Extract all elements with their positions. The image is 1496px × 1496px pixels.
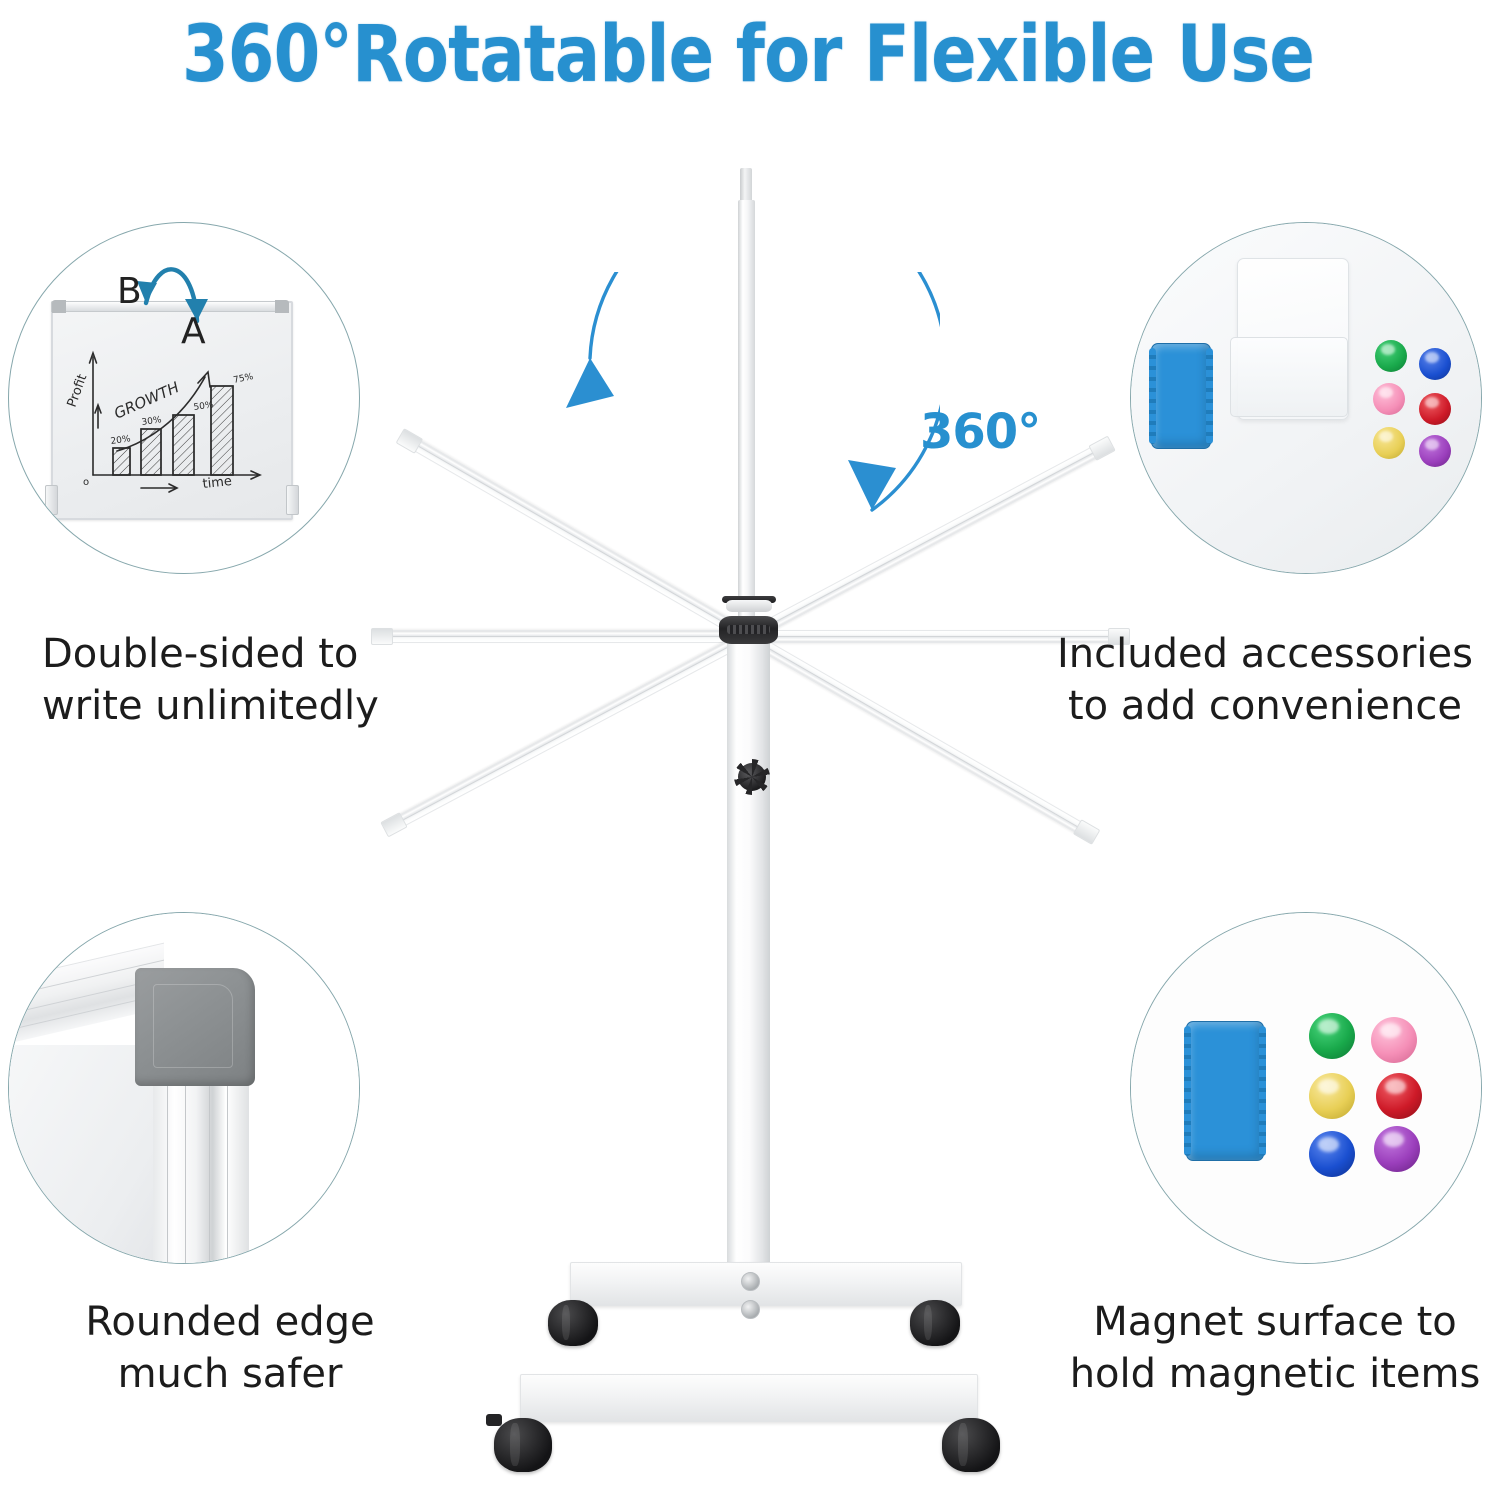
feature-circle-accessories — [1130, 222, 1482, 574]
rotation-arc-graphic — [520, 272, 940, 692]
base-screw-lower — [741, 1300, 760, 1319]
caster-stem-front-left — [486, 1414, 502, 1426]
magnet-red — [1376, 1073, 1422, 1119]
magnet-pink — [1371, 1017, 1417, 1063]
magnet-pink — [1373, 383, 1405, 415]
height-adjust-knob[interactable] — [738, 763, 766, 791]
feature-circle-double-sided: Profit time GROWTH 20% 30% 50% 75% o — [8, 222, 360, 574]
magnetic-eraser — [1186, 1021, 1264, 1161]
magnet-red — [1419, 393, 1451, 425]
caster-wheel-front-left — [494, 1418, 552, 1472]
board-label-front: A — [181, 311, 206, 352]
magnet-yellow — [1309, 1073, 1355, 1119]
page-title: 360°Rotatable for Flexible Use — [105, 10, 1392, 100]
base-crossbar-rear — [570, 1262, 962, 1306]
caster-wheel-front-right — [942, 1418, 1000, 1472]
caption-magnet-surface: Magnet surface to hold magnetic items — [1055, 1296, 1495, 1400]
magnet-blue — [1419, 348, 1451, 380]
caster-wheel-rear-left — [548, 1300, 598, 1346]
board-label-back: B — [117, 271, 142, 312]
rotation-degrees-label: 360° — [920, 404, 1040, 460]
magnet-purple — [1374, 1126, 1420, 1172]
feature-circle-magnet-surface — [1130, 912, 1482, 1264]
caption-double-sided: Double-sided to write unlimitedly — [42, 628, 462, 732]
caster-wheel-rear-right — [910, 1300, 960, 1346]
frame-side-rail — [153, 1061, 249, 1264]
caption-accessories: Included accessories to add convenience — [1050, 628, 1480, 732]
base-screw-upper — [741, 1272, 760, 1291]
accessory-tray — [1237, 258, 1349, 420]
magnet-green — [1309, 1013, 1355, 1059]
pole-main-column — [727, 640, 770, 1300]
magnet-yellow — [1373, 427, 1405, 459]
magnet-blue — [1309, 1131, 1355, 1177]
rounded-corner-cap — [135, 968, 255, 1086]
magnetic-eraser — [1151, 343, 1211, 449]
product-feature-infographic: 360°Rotatable for Flexible Use — [0, 0, 1496, 1496]
flip-arrow-icon — [9, 223, 360, 574]
base-crossbar-front — [520, 1374, 978, 1422]
caption-rounded-edge: Rounded edge much safer — [30, 1296, 430, 1400]
magnet-purple — [1419, 435, 1451, 467]
magnet-green — [1375, 340, 1407, 372]
feature-circle-rounded-edge — [8, 912, 360, 1264]
